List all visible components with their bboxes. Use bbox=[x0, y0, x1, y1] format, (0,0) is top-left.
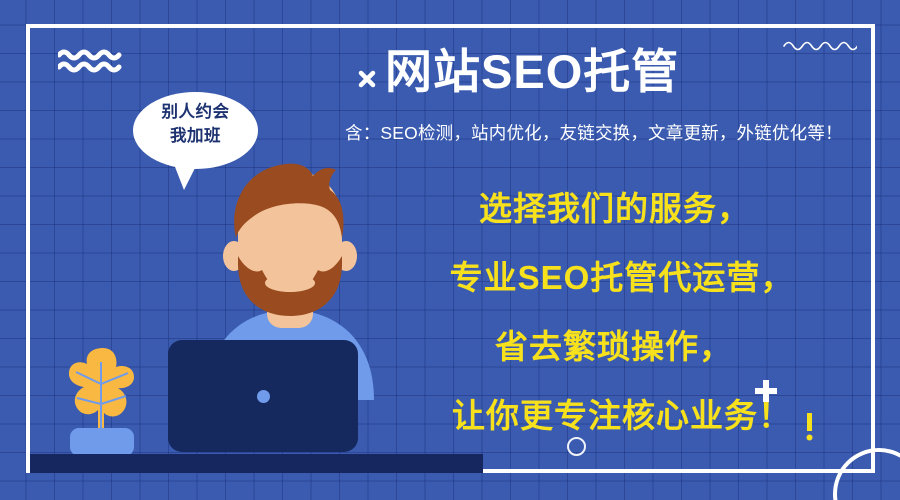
seo-promo-banner: 网站SEO托管 含：SEO检测，站内优化，友链交换，文章更新，外链优化等！ 选择… bbox=[0, 0, 900, 500]
slogan-line-2: 专业SEO托管代运营， bbox=[412, 261, 832, 294]
decorative-frame-right-edge bbox=[871, 24, 875, 473]
circle-outline-icon bbox=[567, 437, 586, 456]
corner-circle-icon bbox=[833, 448, 900, 500]
desk bbox=[30, 454, 483, 473]
speech-bubble-tail bbox=[168, 152, 204, 192]
speech-bubble-text: 别人约会 我加班 bbox=[133, 101, 258, 149]
slogan-line-3: 省去繁琐操作， bbox=[412, 330, 832, 363]
wave-line-icon bbox=[783, 38, 857, 52]
laptop-indicator-icon bbox=[257, 390, 270, 403]
close-x-icon bbox=[352, 64, 382, 94]
potted-plant bbox=[52, 340, 154, 458]
speech-bubble-line-2: 我加班 bbox=[133, 125, 258, 149]
plus-icon bbox=[753, 378, 779, 404]
wave-lines-icon bbox=[58, 48, 122, 74]
slogan-line-1: 选择我们的服务， bbox=[412, 192, 832, 225]
speech-bubble-line-1: 别人约会 bbox=[133, 101, 258, 125]
page-title: 网站SEO托管 bbox=[385, 46, 679, 98]
page-subtitle: 含：SEO检测，站内优化，友链交换，文章更新，外链优化等！ bbox=[345, 120, 843, 145]
exclamation-icon bbox=[806, 413, 813, 441]
